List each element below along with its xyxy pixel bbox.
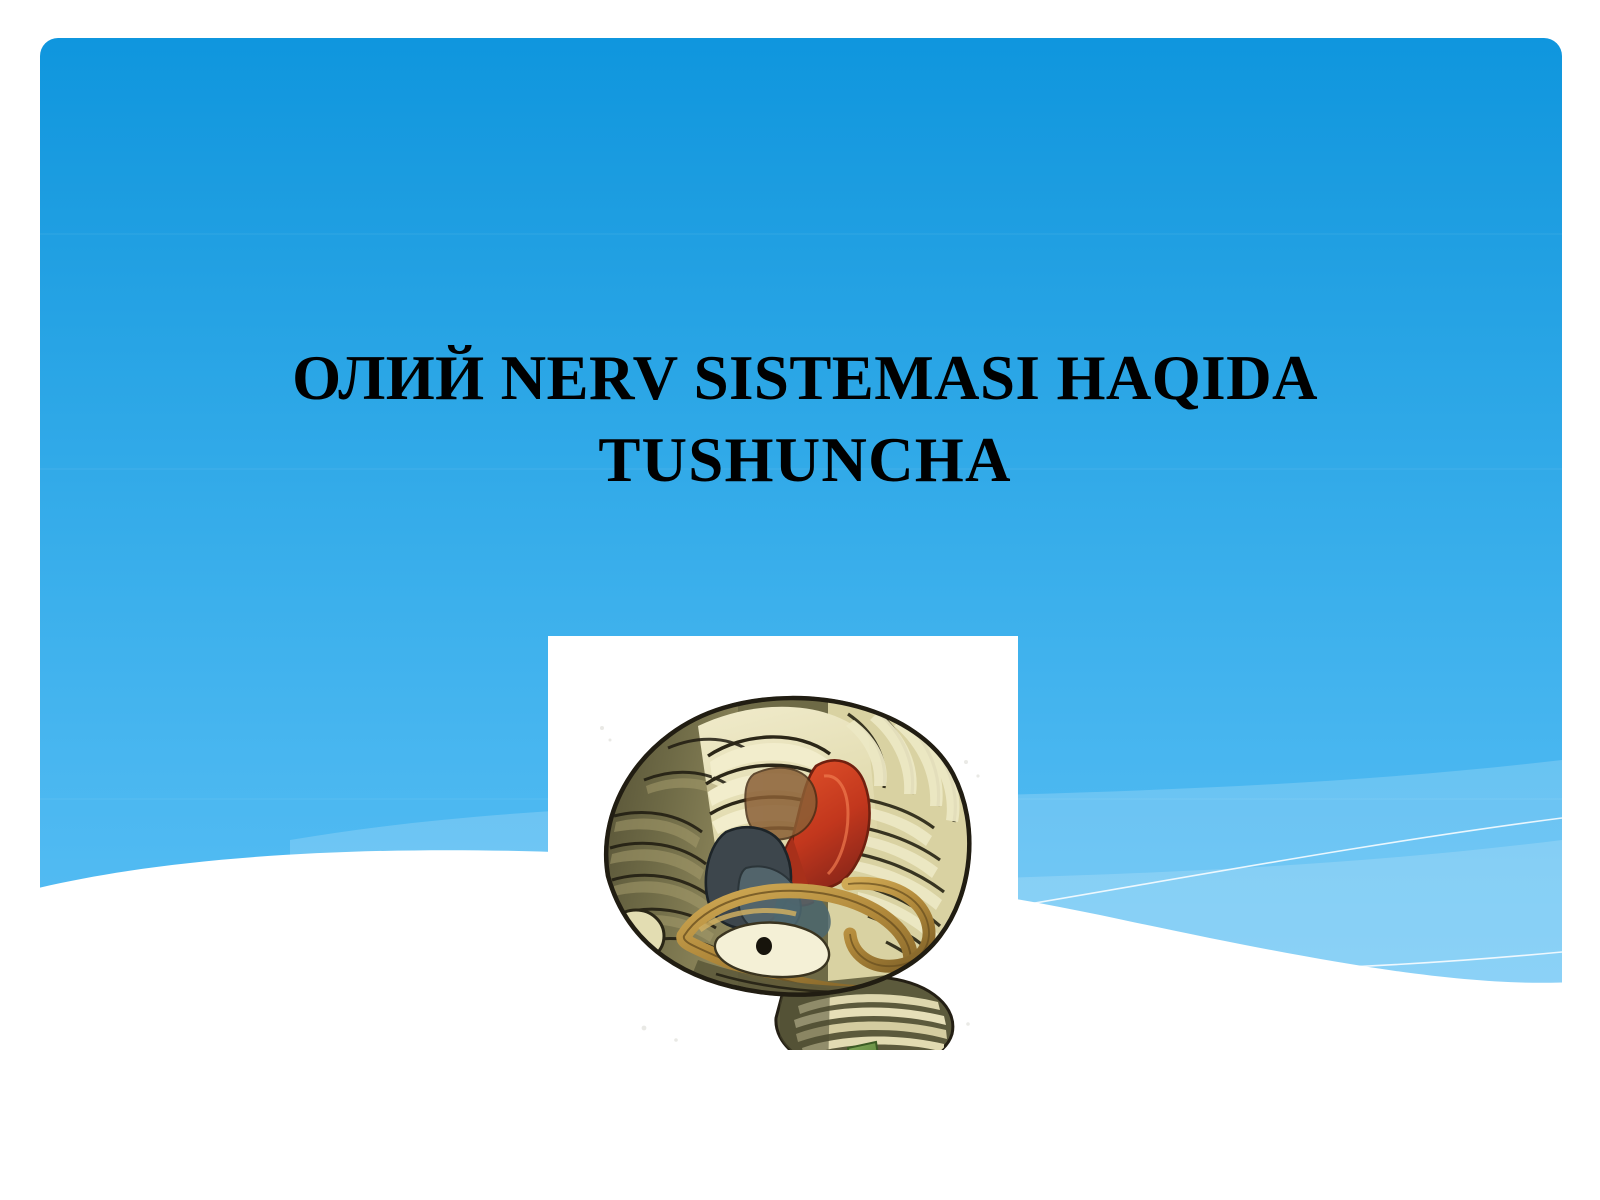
slide-canvas: ОЛИЙ NERV SISTEMASI HAQIDA TUSHUNCHA bbox=[0, 0, 1600, 1200]
brain-image bbox=[548, 636, 1018, 1050]
ventricle-dot bbox=[756, 937, 772, 955]
page-title: ОЛИЙ NERV SISTEMASI HAQIDA TUSHUNCHA bbox=[160, 338, 1450, 502]
brain-illustration-svg bbox=[548, 636, 1018, 1050]
title-line-2: TUSHUNCHA bbox=[160, 420, 1450, 502]
slide-background: ОЛИЙ NERV SISTEMASI HAQIDA TUSHUNCHA bbox=[40, 38, 1562, 1050]
raster-band bbox=[40, 233, 1562, 235]
title-line-1: ОЛИЙ NERV SISTEMASI HAQIDA bbox=[160, 338, 1450, 420]
